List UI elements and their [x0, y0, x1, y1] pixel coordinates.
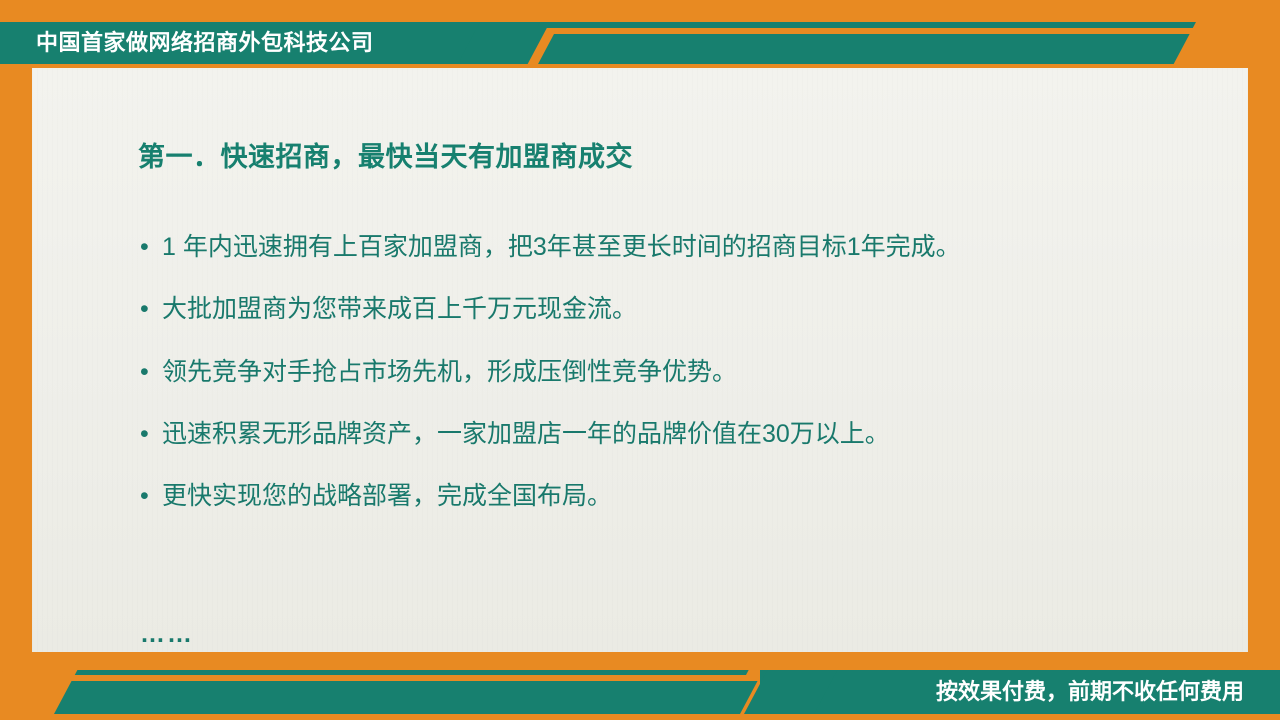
slide-footer: 按效果付费，前期不收任何费用	[0, 652, 1280, 720]
header-stripe-thick	[538, 34, 1266, 64]
header-stripe-thin	[537, 22, 1256, 28]
footer-stripe-thick	[34, 681, 758, 714]
bullet-marker-icon: •	[140, 419, 162, 450]
header-title: 中国首家做网络招商外包科技公司	[36, 22, 374, 64]
list-item-label: 迅速积累无形品牌资产，一家加盟店一年的品牌价值在30万以上。	[162, 419, 1220, 450]
list-item: • 1 年内迅速拥有上百家加盟商，把3年甚至更长时间的招商目标1年完成。	[140, 232, 1220, 263]
list-item: • 迅速积累无形品牌资产，一家加盟店一年的品牌价值在30万以上。	[140, 419, 1220, 450]
list-item: • 更快实现您的战略部署，完成全国布局。	[140, 481, 1220, 512]
list-item-label: 领先竞争对手抢占市场先机，形成压倒性竞争优势。	[162, 357, 1220, 388]
bullet-list: • 1 年内迅速拥有上百家加盟商，把3年甚至更长时间的招商目标1年完成。 • 大…	[140, 232, 1220, 543]
footer-stripe-thin	[46, 670, 749, 675]
slide-header: 中国首家做网络招商外包科技公司	[0, 0, 1280, 68]
bullet-marker-icon: •	[140, 357, 162, 388]
bullet-marker-icon: •	[140, 294, 162, 325]
list-item: • 大批加盟商为您带来成百上千万元现金流。	[140, 294, 1220, 325]
trailing-ellipsis: ……	[140, 620, 194, 649]
list-item-label: 大批加盟商为您带来成百上千万元现金流。	[162, 294, 1220, 325]
header-orange-notch	[1174, 22, 1280, 64]
bullet-marker-icon: •	[140, 232, 162, 263]
list-item-label: 更快实现您的战略部署，完成全国布局。	[162, 481, 1220, 512]
list-item-label: 1 年内迅速拥有上百家加盟商，把3年甚至更长时间的招商目标1年完成。	[162, 232, 1220, 263]
slide: 中国首家做网络招商外包科技公司 第一．快速招商，最快当天有加盟商成交 • 1 年…	[0, 0, 1280, 720]
bullet-marker-icon: •	[140, 481, 162, 512]
footer-text: 按效果付费，前期不收任何费用	[936, 670, 1244, 714]
page-title: 第一．快速招商，最快当天有加盟商成交	[138, 135, 633, 174]
list-item: • 领先竞争对手抢占市场先机，形成压倒性竞争优势。	[140, 357, 1220, 388]
